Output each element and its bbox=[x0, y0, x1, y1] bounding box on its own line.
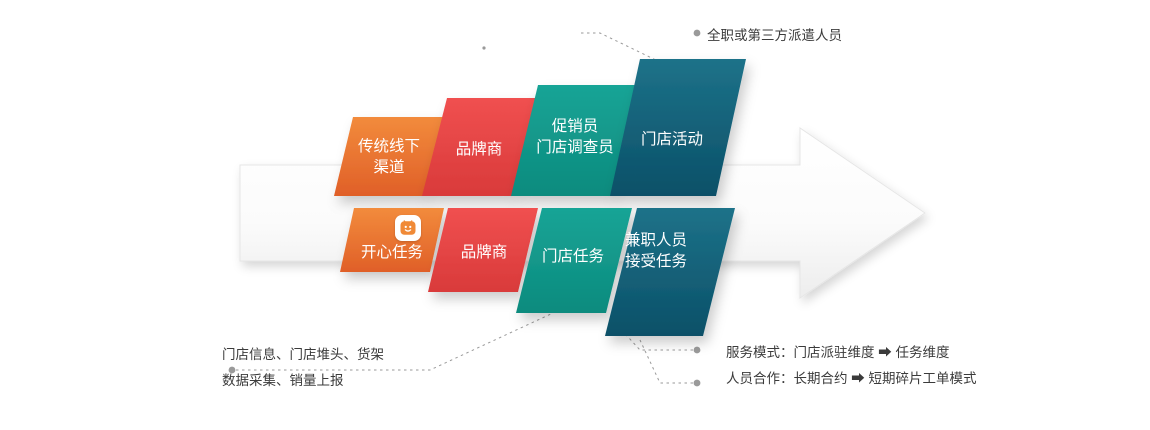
callout-bottom-left: 门店信息、门店堆头、货架 数据采集、销量上报 bbox=[222, 342, 502, 393]
smile-icon-glyph bbox=[399, 219, 417, 237]
top-row-shapes bbox=[334, 59, 746, 196]
node-bottom-1[interactable] bbox=[340, 208, 444, 272]
callout-bottom-right: 服务模式：门店派驻维度 ➡ 任务维度 人员合作：长期合约 ➡ 短期碎片工单模式 bbox=[726, 340, 1126, 391]
callout-top-right: 全职或第三方派遣人员 bbox=[707, 23, 1027, 49]
smile-icon bbox=[395, 215, 421, 241]
diagram-canvas: 传统线下 渠道 品牌商 促销员 门店调查员 门店活动 开心任务 品牌商 门店任务… bbox=[0, 0, 1150, 430]
